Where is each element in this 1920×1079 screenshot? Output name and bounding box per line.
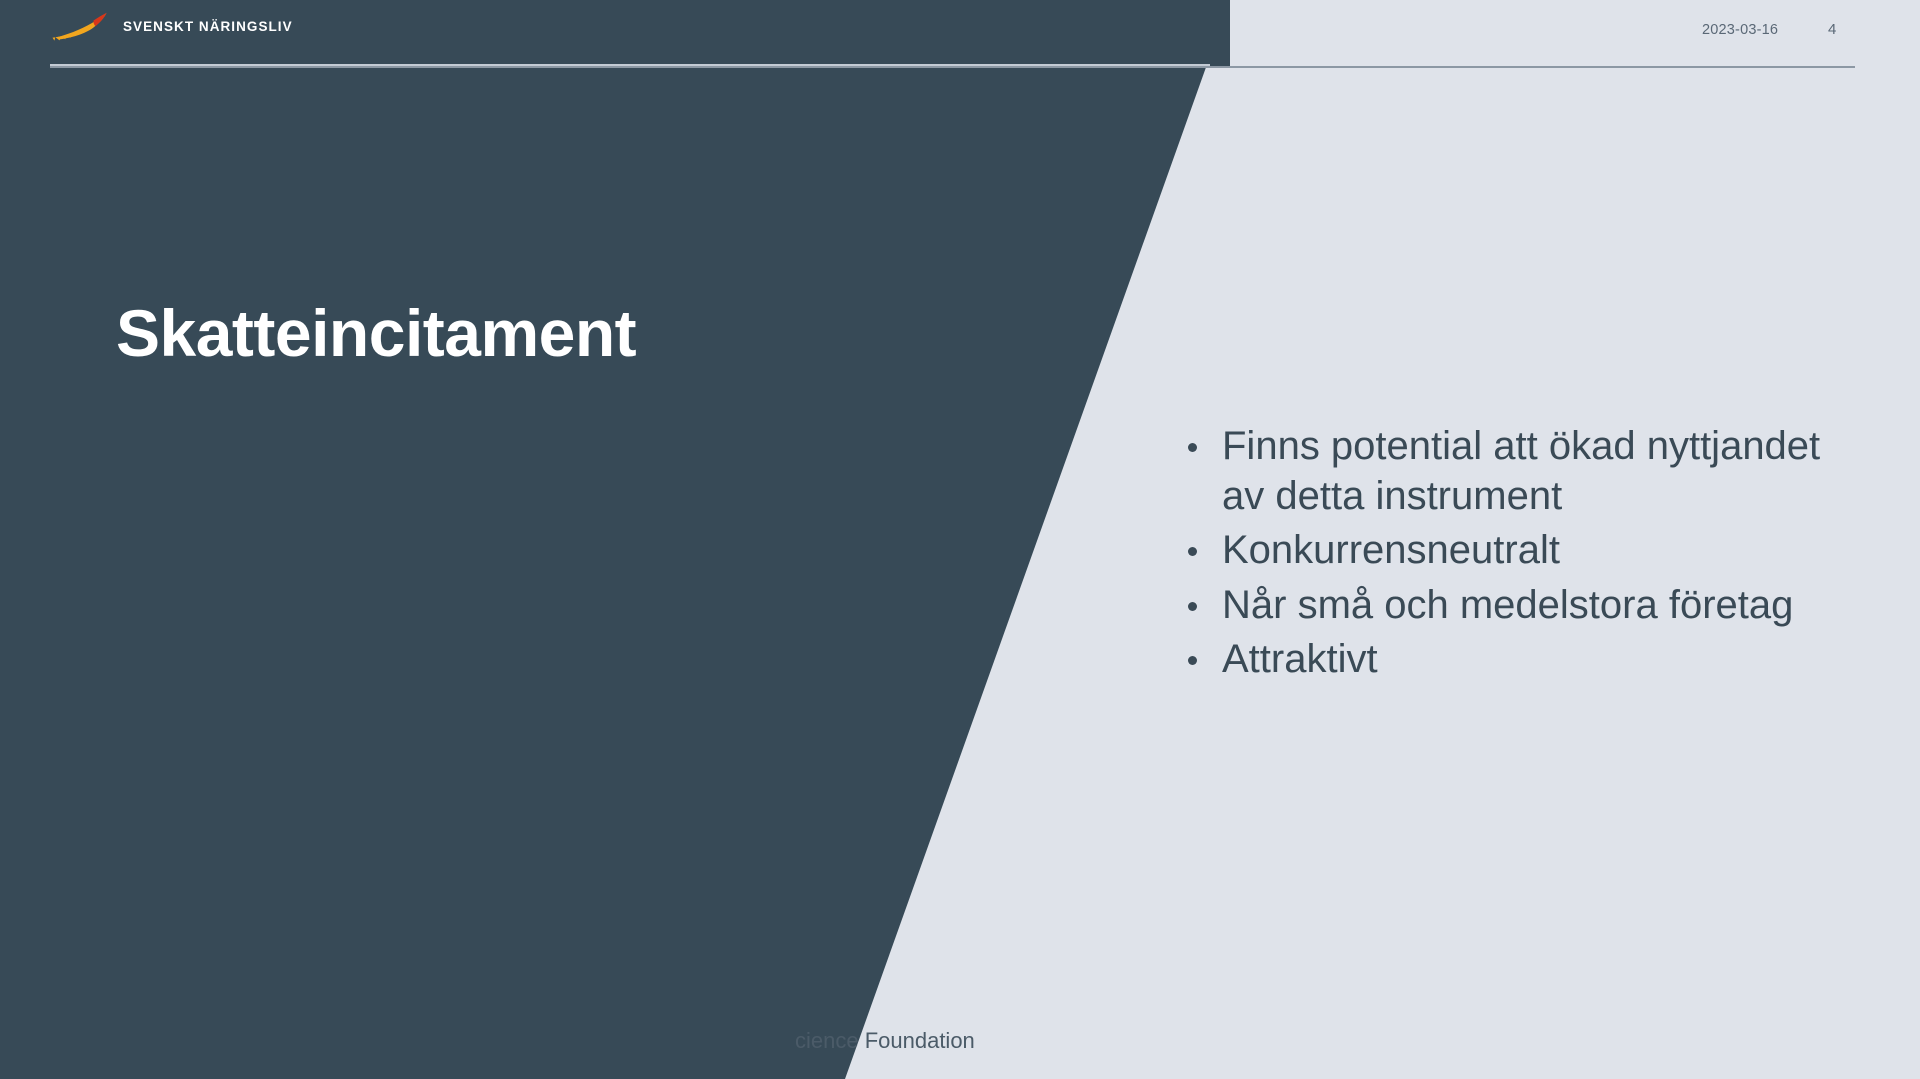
- list-item: Konkurrensneutralt: [1185, 526, 1845, 576]
- presentation-slide: SVENSKT NÄRINGSLIV 2023-03-16 4 Skattein…: [0, 0, 1920, 1079]
- list-item: Attraktivt: [1185, 635, 1845, 685]
- slide-date: 2023-03-16: [1702, 22, 1842, 38]
- list-item: Når små och medelstora företag: [1185, 581, 1845, 631]
- bullet-text: Attraktivt: [1222, 637, 1378, 681]
- slide-title: Skatteincitament: [116, 299, 636, 368]
- wing-logo-icon: [52, 12, 114, 42]
- bullet-text: Konkurrensneutralt: [1222, 528, 1560, 572]
- bullet-text: Når små och medelstora företag: [1222, 583, 1793, 627]
- brand-logo-text: SVENSKT NÄRINGSLIV: [123, 20, 293, 34]
- bullet-dot-icon: [1188, 547, 1197, 556]
- bullet-list: Finns potential att ökad nyttjandet av d…: [1185, 422, 1845, 690]
- footer-caption: cience Foundation: [795, 1028, 975, 1054]
- slide-header: SVENSKT NÄRINGSLIV 2023-03-16 4: [0, 0, 1920, 70]
- bullet-dot-icon: [1188, 443, 1197, 452]
- bullet-dot-icon: [1188, 602, 1197, 611]
- slide-page-number: 4: [1828, 21, 1868, 38]
- bullet-text: Finns potential att ökad nyttjandet av d…: [1222, 424, 1820, 518]
- brand-logo: SVENSKT NÄRINGSLIV: [52, 11, 293, 43]
- header-divider: [50, 66, 1855, 68]
- bullet-dot-icon: [1188, 656, 1197, 665]
- list-item: Finns potential att ökad nyttjandet av d…: [1185, 422, 1845, 521]
